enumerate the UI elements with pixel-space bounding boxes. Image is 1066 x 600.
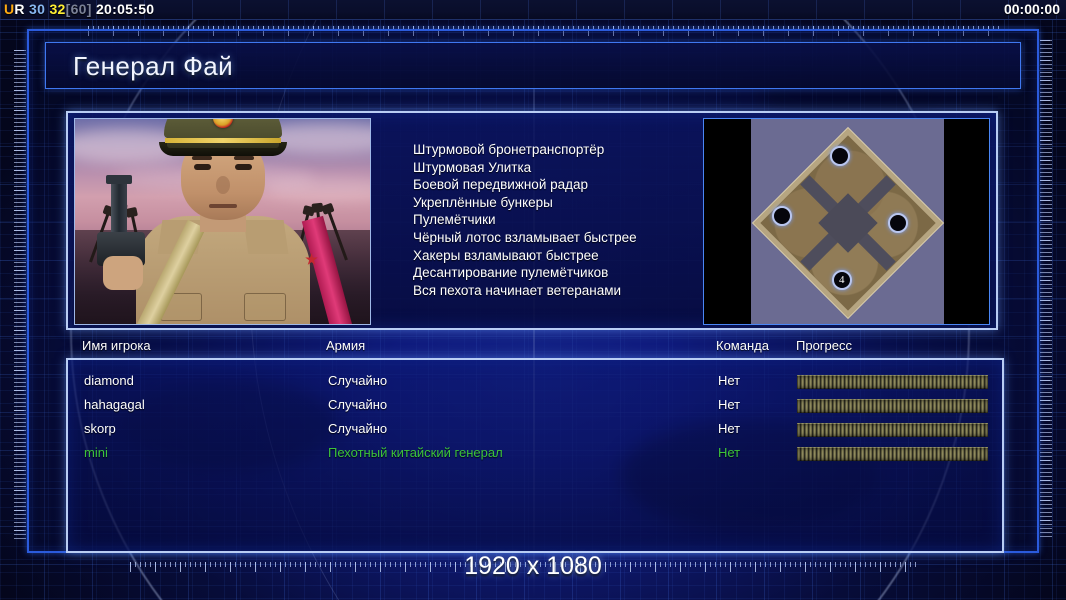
player-list-header: Имя игрока Армия Команда Прогресс [66, 338, 998, 358]
clock-right: 00:00:00 [1004, 1, 1060, 17]
player-progress-bar [797, 375, 988, 389]
general-info-panel: Штурмовой бронетранспортёр Штурмовая Ули… [66, 111, 998, 330]
ability-item: Укреплённые бункеры [413, 194, 713, 212]
top-status-bar-grid [0, 0, 1066, 19]
player-army[interactable]: Пехотный китайский генерал [328, 445, 503, 460]
ability-item: Боевой передвижной радар [413, 176, 713, 194]
top-status-bar: UR 30 32[60] 20:05:50 00:00:00 [0, 0, 1066, 20]
map-start-position[interactable]: 4 [832, 270, 852, 290]
ruler-right [1040, 40, 1052, 540]
ur-label-r: R [14, 1, 24, 17]
general-ability-list: Штурмовой бронетранспортёр Штурмовая Ули… [413, 141, 713, 299]
column-header-team: Команда [716, 338, 769, 353]
player-team[interactable]: Нет [718, 373, 740, 388]
table-row[interactable]: mini Пехотный китайский генерал Нет [68, 442, 1002, 466]
table-row[interactable]: skorp Случайно Нет [68, 418, 1002, 442]
portrait-pistol-barrel [111, 178, 127, 236]
player-name: hahagagal [84, 397, 145, 412]
player-name: skorp [84, 421, 116, 436]
ur-value-c: [60] [66, 1, 92, 17]
map-start-position[interactable] [830, 146, 850, 166]
player-team[interactable]: Нет [718, 421, 740, 436]
ability-item: Пулемётчики [413, 211, 713, 229]
player-army[interactable]: Случайно [328, 421, 387, 436]
map-start-position[interactable] [888, 213, 908, 233]
ability-item: Вся пехота начинает ветеранами [413, 282, 713, 300]
portrait-brow-left [192, 156, 212, 160]
player-team[interactable]: Нет [718, 445, 740, 460]
portrait-hand [103, 256, 143, 290]
map-start-position[interactable] [772, 206, 792, 226]
player-team[interactable]: Нет [718, 397, 740, 412]
table-row[interactable]: hahagagal Случайно Нет [68, 394, 1002, 418]
ur-label-u: U [4, 1, 14, 17]
ability-item: Штурмовая Улитка [413, 159, 713, 177]
ability-item: Хакеры взламывают быстрее [413, 247, 713, 265]
column-header-name: Имя игрока [82, 338, 151, 353]
player-name: mini [84, 445, 108, 460]
top-status-left: UR 30 32[60] 20:05:50 [4, 1, 154, 17]
column-header-progress: Прогресс [796, 338, 852, 353]
ability-item: Десантирование пулемётчиков [413, 264, 713, 282]
player-progress-bar [797, 447, 988, 461]
clock-left: 20:05:50 [96, 1, 154, 17]
table-row[interactable]: diamond Случайно Нет [68, 370, 1002, 394]
map-preview[interactable]: 4 [703, 118, 990, 325]
column-header-army: Армия [326, 338, 365, 353]
map-field: 4 [751, 119, 944, 325]
ability-item: Штурмовой бронетранспортёр [413, 141, 713, 159]
portrait-cap-cord [165, 138, 281, 143]
portrait-mouth [209, 204, 237, 208]
portrait-pocket-right [244, 293, 286, 321]
player-progress-bar [797, 423, 988, 437]
ur-value-a: 30 [29, 1, 45, 17]
ruler-left [14, 50, 26, 540]
portrait-pistol-sight [106, 175, 132, 184]
page-title: Генерал Фай [73, 51, 233, 82]
portrait-nose [216, 176, 230, 194]
player-army[interactable]: Случайно [328, 373, 387, 388]
portrait-eye-left [194, 164, 211, 170]
game-lobby-screen: UR 30 32[60] 20:05:50 00:00:00 Генерал Ф… [0, 0, 1066, 600]
player-army[interactable]: Случайно [328, 397, 387, 412]
title-panel: Генерал Фай [45, 42, 1021, 89]
portrait-eye-right [235, 164, 252, 170]
resolution-label: 1920 x 1080 [0, 552, 1066, 581]
ability-item: Чёрный лотос взламывает быстрее [413, 229, 713, 247]
player-name: diamond [84, 373, 134, 388]
ur-value-b: 32 [49, 1, 65, 17]
portrait-collar-right [243, 220, 288, 254]
general-portrait [74, 118, 371, 325]
player-list-panel: diamond Случайно Нет hahagagal Случайно … [66, 358, 1004, 553]
player-progress-bar [797, 399, 988, 413]
portrait-brow-right [234, 156, 254, 160]
